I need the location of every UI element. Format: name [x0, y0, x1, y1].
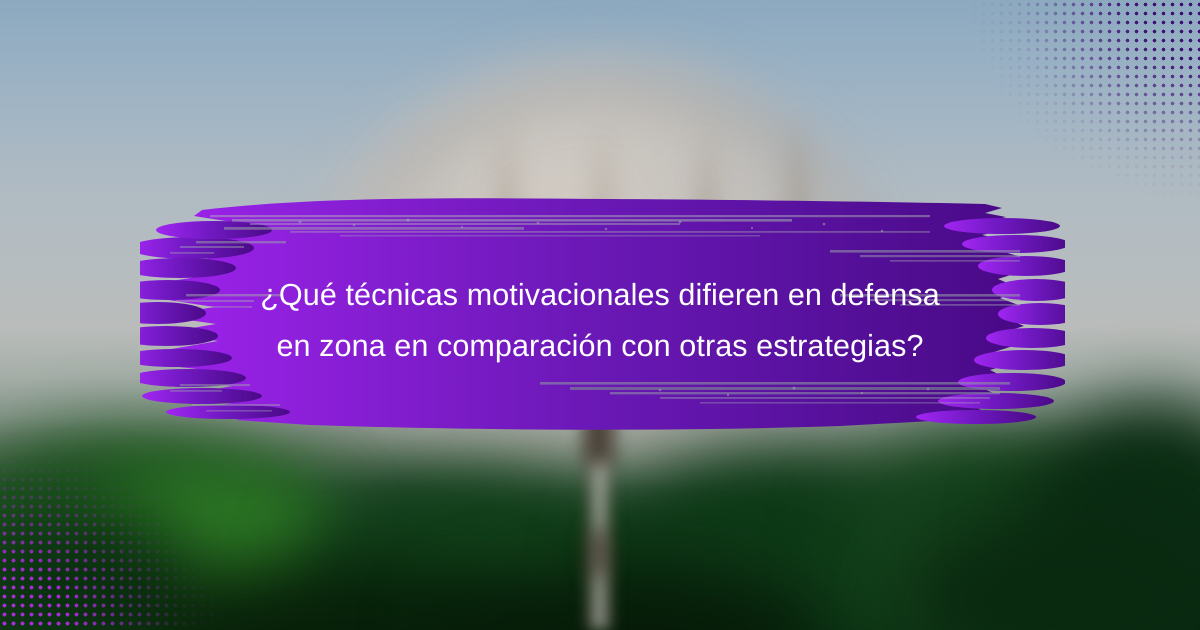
page-title: ¿Qué técnicas motivacionales difieren en…	[150, 270, 1050, 372]
social-card: ¿Qué técnicas motivacionales difieren en…	[0, 0, 1200, 630]
antenna-mast-joint	[588, 530, 610, 576]
